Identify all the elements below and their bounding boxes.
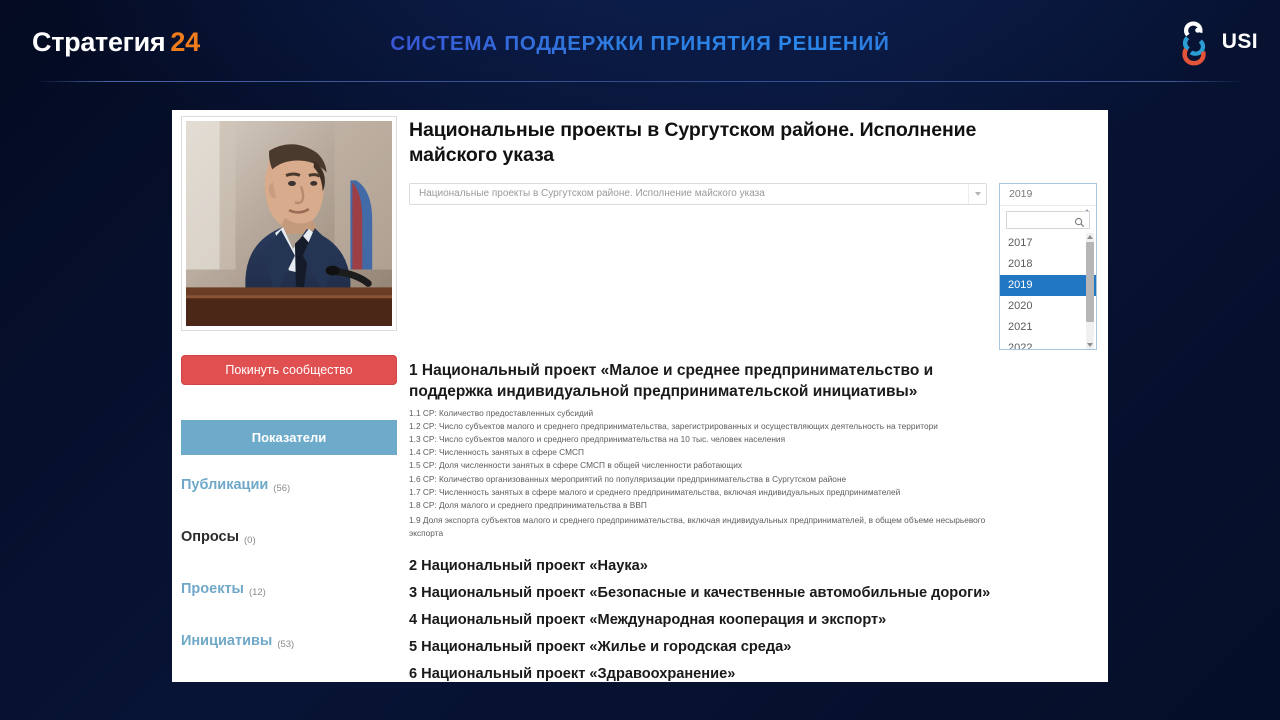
sidebar-item-label: Проекты [181, 581, 244, 597]
indicator-item[interactable]: 1.3 СР: Число субъектов малого и среднег… [409, 433, 1079, 446]
project-row[interactable]: 6 Национальный проект «Здравоохранение» [409, 661, 1101, 682]
year-option[interactable]: 2022 [1000, 338, 1096, 349]
project-row[interactable]: 5 Национальный проект «Жилье и городская… [409, 634, 1101, 661]
sidebar-item-publications[interactable]: Публикации (56) [181, 477, 403, 529]
dropdown-scrollbar[interactable] [1086, 233, 1094, 349]
scroll-up-arrow-icon[interactable] [1087, 235, 1093, 239]
project-row[interactable]: 3 Национальный проект «Безопасные и каче… [409, 580, 1101, 607]
usi-s-mark-icon [1175, 18, 1213, 66]
year-search-input[interactable] [1007, 212, 1089, 228]
sidebar-nav: Публикации (56) Опросы (0) Проекты (12) … [181, 477, 403, 682]
year-search-wrapper [1000, 206, 1096, 233]
year-option[interactable]: 2020 [1000, 296, 1096, 317]
year-option[interactable]: 2017 [1000, 233, 1096, 254]
year-option-selected[interactable]: 2019 [1000, 275, 1096, 296]
sidebar-item-projects[interactable]: Проекты (12) [181, 581, 403, 633]
year-options-list[interactable]: 2017 2018 2019 2020 2021 2022 [1000, 233, 1096, 349]
year-dropdown-value: 2019 [1009, 188, 1032, 200]
chevron-down-icon[interactable] [968, 184, 986, 204]
indicator-item[interactable]: 1.2 СР: Число субъектов малого и среднег… [409, 420, 1079, 433]
avatar [181, 116, 397, 331]
year-search[interactable] [1006, 211, 1090, 229]
year-option[interactable]: 2018 [1000, 254, 1096, 275]
indicator-item[interactable]: 1.1 СР: Количество предоставленных субси… [409, 407, 1079, 420]
indicator-item[interactable]: 1.9 Доля экспорта субъектов малого и сре… [409, 514, 1079, 527]
sidebar-item-count: (12) [249, 581, 266, 598]
scroll-down-arrow-icon[interactable] [1087, 343, 1093, 347]
page-title: СИСТЕМА ПОДДЕРЖКИ ПРИНЯТИЯ РЕШЕНИЙ [0, 32, 1280, 56]
indicator-item[interactable]: 1.6 СР: Количество организованных меропр… [409, 473, 1079, 486]
indicator-item[interactable]: 1.5 СР: Доля численности занятых в сфере… [409, 459, 1079, 472]
project-row[interactable]: 2 Национальный проект «Наука» [409, 553, 1101, 580]
indicator-item[interactable]: 1.4 СР: Численность занятых в сфере СМСП [409, 446, 1079, 459]
project-row[interactable]: 4 Национальный проект «Международная коо… [409, 607, 1101, 634]
indicator-item[interactable]: 1.8 СР: Доля малого и среднего предприни… [409, 499, 1079, 512]
sidebar-item-label: Опросы [181, 529, 239, 545]
year-dropdown[interactable]: 2019 2017 [999, 183, 1097, 350]
project-select-value: Национальные проекты в Сургутском районе… [419, 188, 765, 199]
featured-project-indicators: 1.1 СР: Количество предоставленных субси… [409, 407, 1101, 540]
featured-project-title[interactable]: 1 Национальный проект «Малое и среднее п… [409, 360, 1009, 402]
usi-logo[interactable]: USI [1175, 18, 1258, 66]
sidebar-item-count: (0) [244, 529, 256, 546]
portrait-photo [186, 121, 392, 326]
header-divider [38, 81, 1242, 82]
leave-community-button[interactable]: Покинуть сообщество [181, 355, 397, 385]
featured-project: 1 Национальный проект «Малое и среднее п… [409, 360, 1101, 540]
indicators-button[interactable]: Показатели [181, 420, 397, 455]
chevron-up-icon[interactable] [1084, 192, 1090, 210]
app-header: Стратегия24 СИСТЕМА ПОДДЕРЖКИ ПРИНЯТИЯ Р… [0, 0, 1280, 92]
sidebar-item-count: (53) [277, 633, 294, 650]
sidebar-item-surveys[interactable]: Опросы (0) [181, 529, 403, 581]
indicator-item[interactable]: 1.7 СР: Численность занятых в сфере мало… [409, 486, 1079, 499]
main-content: Национальные проекты в Сургутском районе… [409, 118, 1101, 682]
filters-row: Национальные проекты в Сургутском районе… [409, 183, 1101, 350]
sidebar-item-label: Инициативы [181, 633, 272, 649]
content-panel: Покинуть сообщество Показатели Публикаци… [172, 110, 1108, 682]
content-title: Национальные проекты в Сургутском районе… [409, 118, 1069, 168]
scrollbar-thumb[interactable] [1086, 242, 1094, 322]
usi-logo-text: USI [1222, 30, 1258, 54]
project-select[interactable]: Национальные проекты в Сургутском районе… [409, 183, 987, 205]
projects-list: 2 Национальный проект «Наука» 3 Национал… [409, 553, 1101, 682]
sidebar-item-initiatives[interactable]: Инициативы (53) [181, 633, 403, 682]
indicator-item-continuation: экспорта [409, 527, 1079, 540]
sidebar-item-count: (56) [273, 477, 290, 494]
featured-project-title-line1: 1 Национальный проект «Малое и среднее п… [409, 362, 919, 379]
year-option[interactable]: 2021 [1000, 317, 1096, 338]
sidebar: Покинуть сообщество Показатели Публикаци… [181, 116, 403, 682]
sidebar-item-label: Публикации [181, 477, 268, 493]
year-dropdown-header[interactable]: 2019 [1000, 184, 1096, 206]
